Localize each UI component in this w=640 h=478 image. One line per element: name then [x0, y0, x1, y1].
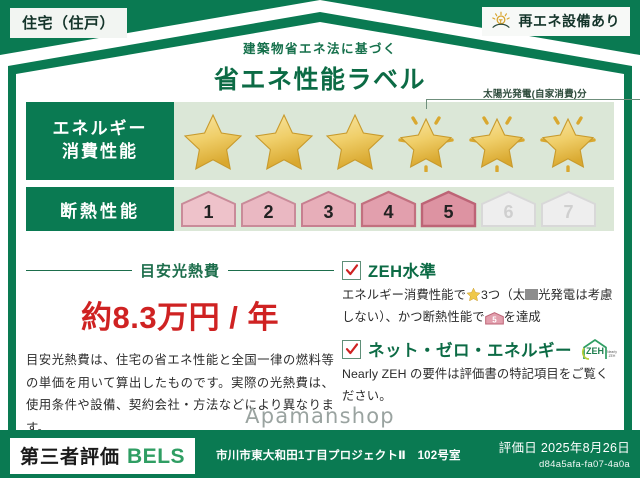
insulation-performance-value: 1 2 3 4	[174, 187, 614, 231]
bels-jp-label: 第三者評価	[20, 442, 120, 469]
insulation-level-7: 7	[540, 190, 597, 228]
star-rating	[178, 107, 602, 175]
energy-label-line2: 消費性能	[62, 141, 138, 164]
svg-text:ZEH: ZEH	[586, 346, 604, 356]
housing-type-tag: 住宅（住戸）	[10, 8, 127, 38]
svg-text:5: 5	[492, 315, 497, 324]
star-icon	[249, 107, 318, 175]
cost-amount: 約8.3万円 / 年	[26, 292, 334, 337]
insulation-level-3: 3	[300, 190, 357, 228]
redacted-text-block	[525, 289, 538, 300]
insulation-level-1: 1	[180, 190, 237, 228]
cost-heading: 目安光熱費	[26, 260, 334, 281]
title-heading: 省エネ性能ラベル	[0, 60, 640, 96]
star-icon-solar	[533, 107, 602, 175]
inline-star-icon	[466, 287, 481, 302]
energy-label-card: 住宅（住戸） 再エネ設備あり 建築物省エネ法に基づく 省エネ性能ラベル	[0, 0, 640, 478]
insulation-level-number: 6	[503, 203, 513, 228]
zeh-body-part4: を達成	[504, 310, 541, 324]
zeh-netzero-block: ネット・ゼロ・エネルギー ZEH Nearly ZEH Nearly ZEH の…	[342, 337, 614, 407]
insulation-level-5: 5	[420, 190, 477, 228]
energy-label-line1: エネルギー	[53, 118, 148, 141]
sun-icon	[490, 11, 512, 31]
insulation-level-number: 2	[263, 203, 273, 228]
star-icon	[178, 107, 247, 175]
insulation-level-scale: 1 2 3 4	[180, 190, 597, 228]
label-footer: 第三者評価 BELS 市川市東大和田1丁目プロジェクトⅡ 102号室 評価日 2…	[0, 430, 640, 478]
insulation-level-4: 4	[360, 190, 417, 228]
zeh-logo-icon: ZEH Nearly ZEH	[580, 337, 618, 361]
energy-performance-row: エネルギー 消費性能 太陽光発電(自家消費)分	[26, 102, 614, 180]
title-subheading: 建築物省エネ法に基づく	[0, 38, 640, 57]
inline-insulation-house-icon: 5	[485, 311, 504, 326]
insulation-level-number: 4	[383, 203, 393, 228]
evaluation-meta: 評価日 2025年8月26日 d84a5afa-fa07-4a0a	[499, 437, 630, 470]
label-title-block: 建築物省エネ法に基づく 省エネ性能ラベル	[0, 38, 640, 96]
checkbox-checked-icon	[342, 261, 361, 280]
insulation-performance-label: 断熱性能	[26, 187, 174, 231]
insulation-level-number: 1	[203, 203, 213, 228]
insulation-performance-row: 断熱性能 1 2 3	[26, 187, 614, 231]
star-icon-solar	[391, 107, 460, 175]
zeh-body-part2: 3つ（太	[481, 288, 525, 302]
insulation-level-number: 5	[443, 203, 453, 228]
zeh-standard-body: エネルギー消費性能で3つ（太光発電は考慮しない）、かつ断熱性能で5を達成	[342, 285, 614, 328]
checkbox-checked-icon	[342, 340, 361, 359]
energy-performance-label: エネルギー 消費性能	[26, 102, 174, 180]
star-icon-solar	[462, 107, 531, 175]
cost-heading-label: 目安光熱費	[140, 260, 220, 281]
bels-en-label: BELS	[127, 445, 185, 469]
star-icon	[320, 107, 389, 175]
performance-panel: エネルギー 消費性能 太陽光発電(自家消費)分	[26, 102, 614, 238]
insulation-level-6: 6	[480, 190, 537, 228]
zeh-standard-block: ZEH水準 エネルギー消費性能で3つ（太光発電は考慮しない）、かつ断熱性能で5を…	[342, 258, 614, 328]
renewable-badge-label: 再エネ設備あり	[519, 11, 621, 31]
bels-badge: 第三者評価 BELS	[10, 438, 195, 474]
evaluation-date: 評価日 2025年8月26日	[499, 437, 630, 456]
svg-text:ZEH: ZEH	[609, 354, 616, 358]
zeh-netzero-body: Nearly ZEH の要件は評価書の特記項目をご覧ください。	[342, 364, 614, 407]
watermark: Apamanshop	[0, 404, 640, 428]
insulation-level-2: 2	[240, 190, 297, 228]
renewable-equipment-badge: 再エネ設備あり	[482, 7, 631, 36]
insulation-level-number: 7	[563, 203, 573, 228]
evaluation-id: d84a5afa-fa07-4a0a	[499, 459, 630, 470]
cost-rule-left	[26, 270, 132, 272]
zeh-standard-title: ZEH水準	[368, 258, 437, 282]
energy-performance-value: 太陽光発電(自家消費)分	[174, 102, 614, 180]
insulation-level-number: 3	[323, 203, 333, 228]
property-address: 市川市東大和田1丁目プロジェクトⅡ 102号室	[216, 447, 461, 463]
cost-rule-right	[228, 270, 334, 272]
zeh-netzero-title-row: ネット・ゼロ・エネルギー ZEH Nearly ZEH	[342, 337, 614, 361]
zeh-netzero-title: ネット・ゼロ・エネルギー	[368, 337, 572, 361]
zeh-standard-title-row: ZEH水準	[342, 258, 614, 282]
zeh-body-part1: エネルギー消費性能で	[342, 288, 466, 302]
